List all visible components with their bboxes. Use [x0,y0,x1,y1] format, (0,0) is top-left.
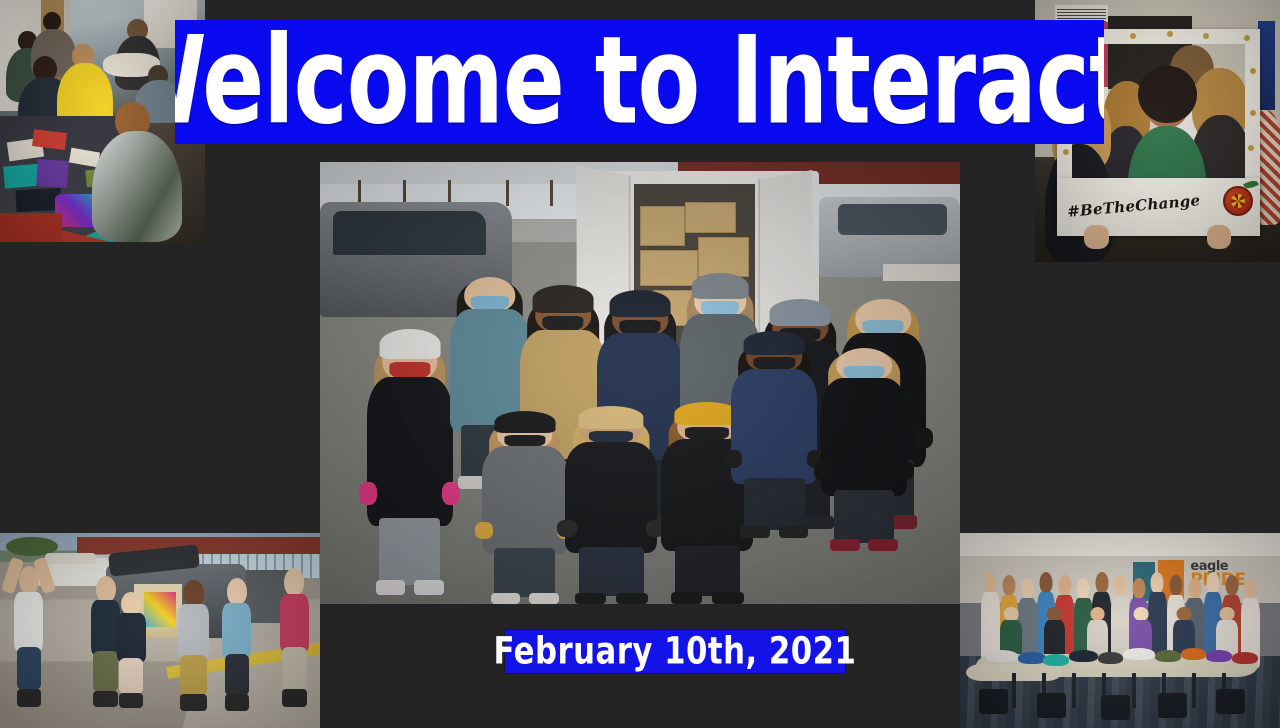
student-girl-fur-hood [563,414,659,604]
rotary-apple-logo [1223,186,1253,216]
student-girl-black-beanie [480,418,570,604]
student-girl-white-beanie [365,339,455,595]
photo-eagle-pride-clothing-drive: eagle PRIDE Large group of students stan… [960,533,1280,728]
date-label: February 10th, 2021 [494,633,857,671]
date-banner: February 10th, 2021 [505,630,845,673]
student-student-red-shoes [819,348,909,551]
student-student-blue-puffer [730,339,820,538]
presentation-slide: Students seated on the floor sorting don… [0,0,1280,728]
photo-winter-van-donation-drive: Twelve masked students in winter coats p… [320,162,960,604]
page-title: Welcome to Interact! [175,22,1104,143]
photo-trunk-donation-drive: Masked students and a staff member posin… [0,533,320,728]
title-banner: Welcome to Interact! [175,20,1104,144]
